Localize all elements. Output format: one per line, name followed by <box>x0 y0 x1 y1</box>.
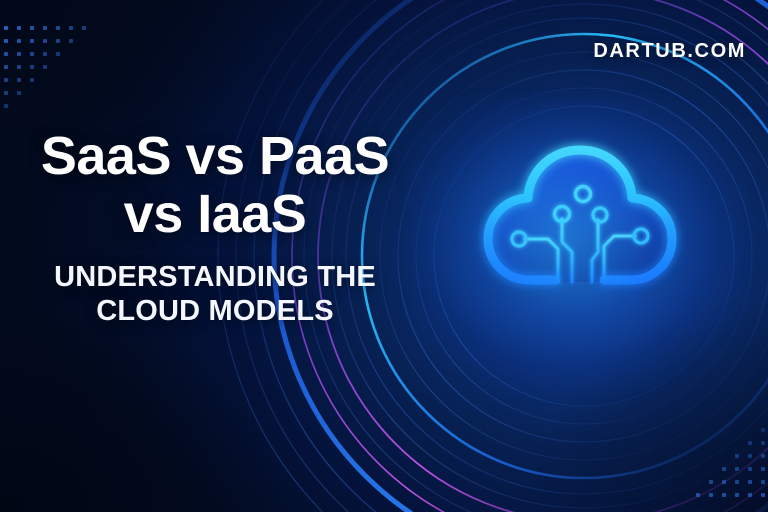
brand-watermark: DARTUB.COM <box>593 40 746 63</box>
title-line-1: SaaS vs PaaS <box>41 126 389 186</box>
poster-canvas: DARTUB.COM <box>0 0 768 512</box>
cloud-circuit-icon <box>452 132 708 362</box>
title-block: SaaS vs PaaS vs IaaS UNDERSTANDING THE C… <box>0 128 430 329</box>
page-title: SaaS vs PaaS vs IaaS <box>0 128 430 244</box>
cloud-fill <box>486 146 674 282</box>
title-line-2: vs IaaS <box>0 186 430 244</box>
subtitle-line-1: UNDERSTANDING THE <box>54 261 376 293</box>
cloud-icon-svg <box>452 132 708 362</box>
subtitle-line-2: CLOUD MODELS <box>0 294 430 329</box>
page-subtitle: UNDERSTANDING THE CLOUD MODELS <box>0 260 430 330</box>
circuit-trace-tails <box>572 282 592 350</box>
